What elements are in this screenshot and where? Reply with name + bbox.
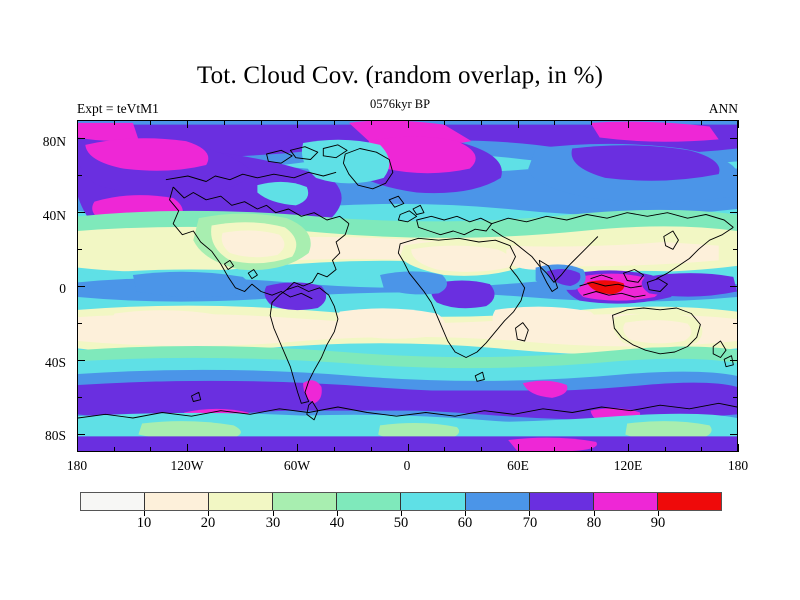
x-tick-60 <box>518 444 519 452</box>
colorbar-band-8 <box>594 493 658 510</box>
colorbar <box>80 492 722 511</box>
x-tick-label-180e: 180 <box>708 458 768 474</box>
colorbar-band-1 <box>145 493 209 510</box>
x-tick-label-60w: 60W <box>267 458 327 474</box>
colorbar-tick-mark-10 <box>144 511 145 516</box>
colorbar-tick-50: 50 <box>377 515 425 532</box>
x-tick-top-160 <box>701 120 702 125</box>
colorbar-band-2 <box>209 493 273 510</box>
map-plot-area <box>77 120 738 452</box>
x-tick-top--120 <box>187 120 188 128</box>
colorbar-band-4 <box>337 493 401 510</box>
colorbar-band-0 <box>81 493 145 510</box>
x-tick-top-20 <box>444 120 445 125</box>
y-tick-0 <box>77 286 85 287</box>
x-tick-top--140 <box>150 120 151 125</box>
y-tick-label-80s: 80S <box>22 428 66 444</box>
x-tick-top-180 <box>738 120 739 128</box>
y-tick-right-20 <box>733 249 738 250</box>
y-tick--80 <box>77 434 85 435</box>
x-tick-top--80 <box>261 120 262 125</box>
x-tick--160 <box>114 447 115 452</box>
x-tick-0 <box>408 444 409 452</box>
colorbar-tick-80: 80 <box>570 515 618 532</box>
colorbar-tick-90: 90 <box>634 515 682 532</box>
x-tick-label-60e: 60E <box>488 458 548 474</box>
y-tick-right--80 <box>730 434 738 435</box>
x-tick--100 <box>224 447 225 452</box>
x-tick-top-140 <box>665 120 666 125</box>
y-tick-right-0 <box>730 286 738 287</box>
x-tick-180 <box>738 444 739 452</box>
colorbar-band-7 <box>530 493 594 510</box>
y-tick-right--40 <box>730 360 738 361</box>
y-tick-80 <box>77 138 85 139</box>
y-tick-label-0: 0 <box>22 281 66 297</box>
colorbar-tick-70: 70 <box>506 515 554 532</box>
x-tick--40 <box>334 447 335 452</box>
y-tick-label-40n: 40N <box>22 208 66 224</box>
y-tick--20 <box>77 323 82 324</box>
colorbar-tick-mark-60 <box>465 511 466 516</box>
colorbar-tick-30: 30 <box>249 515 297 532</box>
x-tick-top-0 <box>408 120 409 128</box>
colorbar-tick-mark-90 <box>658 511 659 516</box>
contour-fill-layers <box>78 121 737 451</box>
x-tick-top--100 <box>224 120 225 125</box>
x-tick-label-180w: 180 <box>47 458 107 474</box>
page-title: Tot. Cloud Cov. (random overlap, in %) <box>0 62 800 90</box>
x-tick-160 <box>701 447 702 452</box>
x-tick-top-80 <box>554 120 555 125</box>
x-tick-top-60 <box>518 120 519 128</box>
x-tick-80 <box>554 447 555 452</box>
colorbar-band-6 <box>466 493 530 510</box>
y-tick-right--20 <box>733 323 738 324</box>
x-tick-100 <box>591 447 592 452</box>
colorbar-band-5 <box>401 493 465 510</box>
x-tick-top-100 <box>591 120 592 125</box>
x-tick-140 <box>665 447 666 452</box>
colorbar-tick-mark-30 <box>273 511 274 516</box>
x-tick-top--60 <box>297 120 298 128</box>
x-tick-top-40 <box>481 120 482 125</box>
x-tick--60 <box>297 444 298 452</box>
x-tick-40 <box>481 447 482 452</box>
colorbar-band-9 <box>658 493 721 510</box>
y-tick-label-80n: 80N <box>22 134 66 150</box>
y-tick-60 <box>77 175 82 176</box>
y-tick--40 <box>77 360 85 361</box>
x-tick-top--40 <box>334 120 335 125</box>
y-tick-right--60 <box>733 397 738 398</box>
colorbar-tick-20: 20 <box>184 515 232 532</box>
colorbar-tick-mark-70 <box>529 511 530 516</box>
x-tick-20 <box>444 447 445 452</box>
y-tick-40 <box>77 212 85 213</box>
y-tick-right-80 <box>730 138 738 139</box>
x-tick--120 <box>187 444 188 452</box>
x-tick-top-120 <box>628 120 629 128</box>
cloud-cover-field <box>78 121 737 451</box>
colorbar-tick-10: 10 <box>120 515 168 532</box>
colorbar-tick-mark-40 <box>337 511 338 516</box>
colorbar-tick-mark-80 <box>594 511 595 516</box>
x-tick-top--160 <box>114 120 115 125</box>
x-tick-label-120w: 120W <box>157 458 217 474</box>
x-tick-top--20 <box>371 120 372 125</box>
x-tick-label-0: 0 <box>377 458 437 474</box>
y-tick-right-60 <box>733 175 738 176</box>
x-tick--80 <box>261 447 262 452</box>
figure-root: { "title": "Tot. Cloud Cov. (random over… <box>0 0 800 600</box>
y-tick-20 <box>77 249 82 250</box>
x-tick-120 <box>628 444 629 452</box>
colorbar-tick-40: 40 <box>313 515 361 532</box>
x-tick-top--180 <box>77 120 78 128</box>
x-tick-label-120e: 120E <box>598 458 658 474</box>
colorbar-tick-60: 60 <box>441 515 489 532</box>
y-tick--60 <box>77 397 82 398</box>
y-tick-label-40s: 40S <box>22 355 66 371</box>
x-tick--180 <box>77 444 78 452</box>
y-tick-right-40 <box>730 212 738 213</box>
x-tick--140 <box>150 447 151 452</box>
colorbar-tick-mark-50 <box>401 511 402 516</box>
season-label: ANN <box>0 101 738 117</box>
colorbar-band-3 <box>273 493 337 510</box>
x-tick--20 <box>371 447 372 452</box>
colorbar-tick-mark-20 <box>208 511 209 516</box>
